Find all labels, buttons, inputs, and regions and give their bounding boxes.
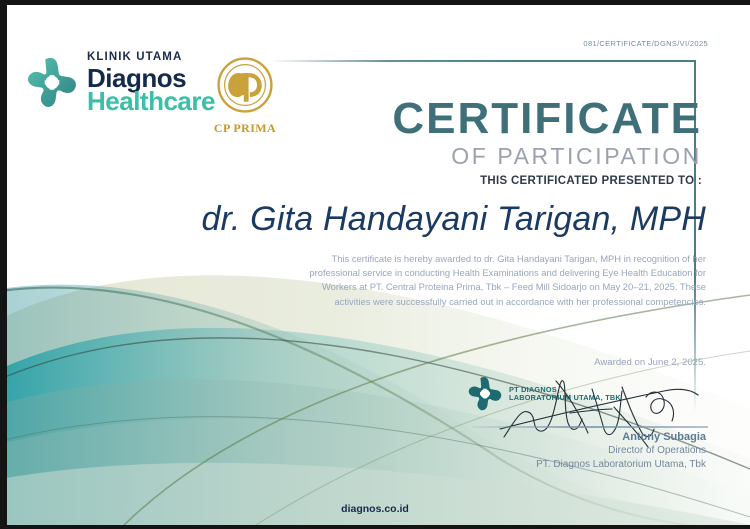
cp-prima-monogram-icon bbox=[215, 55, 275, 115]
presented-to-label: THIS CERTIFICATED PRESENTED TO : bbox=[480, 175, 702, 187]
frame-top-line bbox=[268, 60, 696, 62]
page-edge-left bbox=[0, 0, 7, 529]
page-edge-bottom bbox=[0, 525, 750, 529]
recipient-name: dr. Gita Handayani Tarigan, MPH bbox=[0, 200, 706, 239]
signature-rule bbox=[472, 426, 708, 428]
diagnos-logo: KLINIK UTAMA Diagnos Healthcare bbox=[24, 52, 215, 114]
logo-line-klinik: KLINIK UTAMA bbox=[87, 52, 215, 64]
citation-body: This certificate is hereby awarded to dr… bbox=[306, 252, 706, 309]
certificate-number: 081/CERTIFICATE/DGNS/VI/2025 bbox=[583, 39, 708, 48]
diagnos-cross-icon bbox=[24, 55, 80, 111]
cp-prima-logo: CP PRIMA bbox=[209, 55, 281, 136]
cp-prima-label: CP PRIMA bbox=[209, 121, 281, 136]
page-edge-top bbox=[0, 0, 750, 5]
page-subtitle: OF PARTICIPATION bbox=[451, 143, 702, 170]
page-title: CERTIFICATE bbox=[392, 94, 702, 144]
logo-line-healthcare: Healthcare bbox=[87, 88, 215, 114]
certificate-page: 081/CERTIFICATE/DGNS/VI/2025 KLINIK UTAM… bbox=[0, 0, 750, 529]
signer-name: Antony Subagia bbox=[456, 431, 706, 443]
footer-website: diagnos.co.id bbox=[0, 503, 750, 515]
signer-role: Director of Operations bbox=[456, 445, 706, 456]
signer-organization: PT. Diagnos Laboratorium Utama, Tbk bbox=[456, 459, 706, 470]
diagnos-wordmark: KLINIK UTAMA Diagnos Healthcare bbox=[87, 52, 215, 114]
